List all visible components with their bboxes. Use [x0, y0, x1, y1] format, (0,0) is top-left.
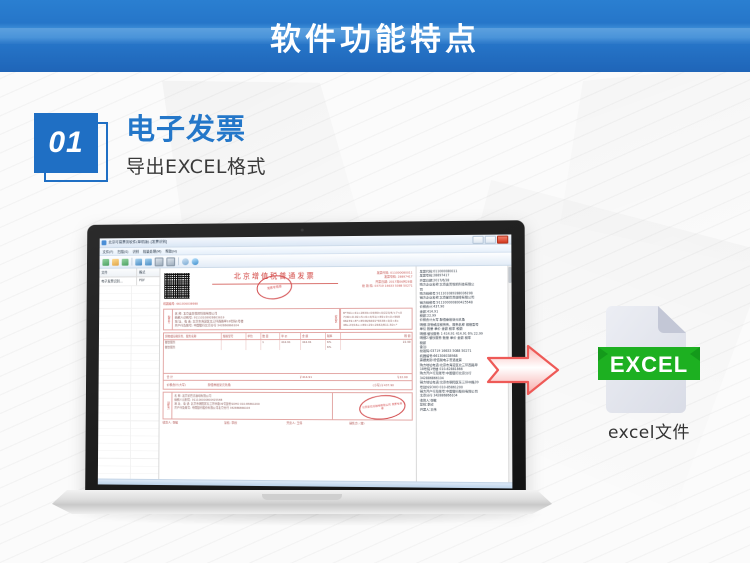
- app-body: 文件 格式 电子发票识别... PDF: [98, 266, 513, 483]
- laptop-screen: 北京可易票务软件(单机版)-[发票识别] 文件(F) 扫描(S) 识别: [98, 234, 513, 488]
- save-icon[interactable]: [122, 258, 129, 265]
- file-format-cell: PDF: [137, 277, 159, 285]
- seller-fields: 名 称: 北京星巴克咖啡有限公司 纳税人识别号: 911100000800425…: [172, 393, 332, 420]
- import-icon[interactable]: [112, 258, 119, 265]
- detail-line: 开票人:王伟: [420, 407, 510, 412]
- seller-label: 销售方: [164, 392, 173, 418]
- background-shape-c: [560, 60, 750, 270]
- page-banner: 软件功能特点: [0, 0, 750, 72]
- invoice-checkcode-field: 校 验 码: 03719 16633 5088 50271: [352, 284, 412, 289]
- invoice-buyer-table: 购买方 名 称: 北京奥普悦凯科技有限公司 纳税人识别号: 9111010892…: [163, 308, 413, 331]
- laptop-mockup: 北京可易票务软件(单机版)-[发票识别] 文件(F) 扫描(S) 识别: [52, 222, 552, 532]
- toolbar-separator-2: [178, 257, 179, 265]
- column-header-format: 格式: [137, 268, 159, 276]
- laptop-lid: 北京可易票务软件(单机版)-[发票识别] 文件(F) 扫描(S) 识别: [85, 220, 526, 503]
- svg-text:EXCEL: EXCEL: [610, 352, 688, 377]
- right-arrow-icon: [482, 341, 564, 399]
- zoom-in-icon[interactable]: [135, 258, 142, 265]
- footer-payee: 收款人: 张敏: [162, 421, 224, 425]
- col-amount: 金 额: [301, 333, 326, 339]
- column-header-file: 文件: [99, 268, 137, 276]
- footer-seller: 销售方: (章): [349, 422, 412, 426]
- buyer-fields: 名 称: 北京奥普悦凯科技有限公司 纳税人识别号: 91110108928803…: [173, 309, 331, 329]
- laptop-shadow: [72, 514, 542, 526]
- seller-bank: 开户行及账号: 中国银行股份有限公司北京分行 342886866104: [174, 406, 330, 411]
- cell-goods-name: 餐饮服务: [164, 345, 222, 350]
- section-heading: 01 电子发票 导出EXCEL格式: [30, 110, 266, 188]
- toolbar-separator: [131, 258, 132, 266]
- cell-amount: [301, 345, 326, 350]
- zoom-out-icon[interactable]: [145, 258, 152, 265]
- grand-total-lower: (小写)￥437.90: [355, 383, 412, 387]
- buyer-bank: 开户行及账号: 中国银行北京分行 342886866104: [175, 323, 329, 328]
- excel-file-label: excel文件: [590, 418, 708, 443]
- seller-seal-area: 北京星巴克咖啡有限公司 发票专用章: [332, 393, 412, 419]
- total-tax: ￥22.99: [316, 375, 412, 379]
- section-heading-texts: 电子发票 导出EXCEL格式: [126, 110, 266, 179]
- col-rate: 税率: [326, 333, 341, 339]
- cell-price: [280, 345, 301, 350]
- file-list-row[interactable]: 电子发票识别... PDF: [99, 277, 159, 286]
- grand-total-upper: 肆佰叁拾柒元玖角: [208, 383, 355, 387]
- window-buttons[interactable]: [472, 235, 508, 243]
- laptop-base-notch: [262, 494, 342, 500]
- file-document-icon: EXCEL: [590, 300, 708, 418]
- open-folder-icon[interactable]: [102, 258, 109, 265]
- menu-item-scan[interactable]: 扫描(S): [117, 249, 128, 254]
- invoice-title-block: 北京增值税普通发票 发票专用章: [202, 271, 348, 284]
- section-title: 电子发票: [126, 112, 266, 146]
- file-list-empty-grid: [98, 286, 160, 479]
- password-label: 密码区: [331, 309, 340, 329]
- buyer-label: 购买方: [164, 310, 173, 330]
- cell-qty: [261, 345, 280, 350]
- seller-seal-stamp: 北京星巴克咖啡有限公司 发票专用章: [358, 393, 407, 422]
- qr-code-icon: [163, 272, 190, 300]
- col-qty: 数 量: [261, 333, 280, 339]
- invoice-header-fields: 发票代码: 011000080011 发票号码: 28897417 开票日期: …: [352, 270, 412, 288]
- invoice-header: 机器编号: 661306038988 北京增值税普通发票 发票专用章 发票代码:…: [163, 270, 412, 305]
- col-price: 单 价: [280, 333, 301, 339]
- excel-file-graphic: EXCEL excel文件: [590, 300, 708, 440]
- app-title-text: 北京可易票务软件(单机版)-[发票识别]: [108, 240, 167, 245]
- settings-icon[interactable]: [182, 258, 189, 265]
- menu-item-batch[interactable]: 批量处理(M): [143, 249, 162, 254]
- badge-number: 01: [48, 126, 83, 160]
- scrollbar-thumb[interactable]: [509, 267, 511, 283]
- invoice-app-window: 北京可易票务软件(单机版)-[发票识别] 文件(F) 扫描(S) 识别: [98, 234, 513, 488]
- cell-spec: [222, 345, 247, 350]
- menu-item-recognize[interactable]: 识别: [132, 249, 139, 254]
- app-icon: [102, 240, 107, 245]
- cell-rate: 6%: [326, 345, 341, 350]
- badge-filled-square: 01: [34, 113, 98, 173]
- col-goods-name: 货物或应税劳务、服务名称: [164, 333, 222, 339]
- grand-total-label: 价税合计(大写): [164, 383, 208, 387]
- menu-item-help[interactable]: 帮助(H): [165, 249, 177, 254]
- invoice-footer: 收款人: 张敏 复核: 李欣 开票人: 王伟 销售方: (章): [162, 421, 412, 426]
- footer-drawer: 开票人: 王伟: [286, 421, 349, 425]
- col-unit: 单位: [246, 333, 261, 339]
- prev-page-icon[interactable]: [155, 257, 164, 266]
- maximize-button[interactable]: [485, 235, 496, 243]
- invoice-items-table: 货物或应税劳务、服务名称 规格型号 单位 数 量 单 价 金 额 税率 税 额: [163, 332, 413, 390]
- webcam-icon: [301, 229, 304, 232]
- file-list-panel[interactable]: 文件 格式 电子发票识别... PDF: [98, 268, 161, 479]
- machine-code-label: 机器编号: 661306038988: [163, 302, 198, 306]
- file-list-header: 文件 格式: [99, 268, 159, 277]
- grand-total-row: 价税合计(大写) 肆佰叁拾柒元玖角 (小写)￥437.90: [164, 380, 412, 389]
- document-pane: 机器编号: 661306038988 北京增值税普通发票 发票专用章 发票代码:…: [159, 266, 512, 483]
- section-subtitle: 导出EXCEL格式: [126, 152, 266, 179]
- file-name-cell: 电子发票识别...: [99, 277, 137, 285]
- info-icon[interactable]: [192, 258, 199, 265]
- footer-reviewer: 复核: 李欣: [224, 421, 286, 425]
- poster-page: 软件功能特点 01 电子发票 导出EXCEL格式 北京可易票务软件(单机版)-[…: [0, 0, 750, 563]
- col-spec: 规格型号: [222, 333, 247, 339]
- invoice-qr-block: 机器编号: 661306038988: [163, 272, 198, 306]
- banner-title: 软件功能特点: [0, 0, 750, 72]
- password-area: 8*761<41<2839>04/89<0/223/4/+7<0 7/40<0-…: [340, 309, 412, 329]
- minimize-button[interactable]: [472, 235, 483, 243]
- total-label: 合 计: [164, 375, 222, 379]
- items-table-row: 餐饮服务 6%: [164, 345, 412, 350]
- next-page-icon[interactable]: [166, 257, 175, 266]
- col-tax: 税 额: [341, 333, 412, 339]
- invoice-seller-table: 销售方 名 称: 北京星巴克咖啡有限公司 纳税人识别号: 91110000080…: [163, 391, 413, 420]
- password-line-4: 48+23/16+>89<29<2642/811.50<*: [343, 323, 410, 327]
- cell-tax: [341, 345, 412, 350]
- section-number-badge: 01: [30, 110, 112, 188]
- close-button[interactable]: [497, 235, 508, 243]
- total-amount: ￥414.91: [222, 375, 316, 379]
- invoice-preview[interactable]: 机器编号: 661306038988 北京增值税普通发票 发票专用章 发票代码:…: [159, 266, 417, 481]
- menu-item-file[interactable]: 文件(F): [102, 249, 113, 254]
- cell-unit: [246, 345, 261, 350]
